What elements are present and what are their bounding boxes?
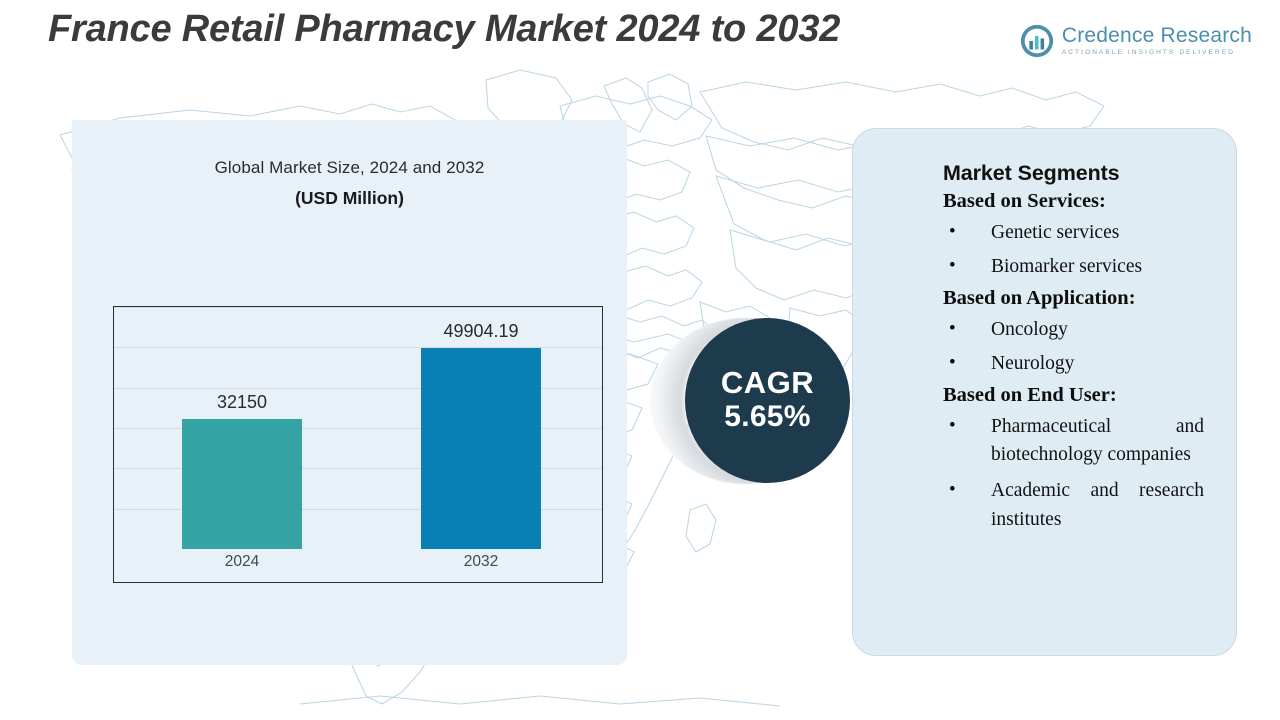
segment-item: Biomarker services <box>943 253 1218 281</box>
bar-chart: 32150 49904.19 2024 2032 <box>113 306 603 583</box>
segment-list: Pharmaceutical and biotechnology compani… <box>943 413 1218 533</box>
segment-group-title: Based on Services: <box>943 190 1218 213</box>
bar-value-2024: 32150 <box>142 392 342 413</box>
page-title: France Retail Pharmacy Market 2024 to 20… <box>48 8 840 51</box>
bar-value-2032: 49904.19 <box>381 321 581 342</box>
segment-group: Based on Application:OncologyNeurology <box>943 287 1218 378</box>
cagr-label: CAGR <box>721 367 814 400</box>
bar-2024 <box>182 419 302 549</box>
bar-group-2024: 32150 <box>182 307 302 549</box>
segment-group-title: Based on Application: <box>943 287 1218 310</box>
brand-logo: Credence Research Actionable Insights De… <box>1020 24 1252 58</box>
category-label-2032: 2032 <box>421 553 541 571</box>
category-label-2024: 2024 <box>182 553 302 571</box>
cagr-badge: CAGR 5.65% <box>650 318 850 484</box>
cagr-circle: CAGR 5.65% <box>685 318 850 483</box>
segment-item: Neurology <box>943 350 1218 378</box>
chart-title: Global Market Size, 2024 and 2032 <box>72 158 627 178</box>
segment-list: Genetic servicesBiomarker services <box>943 219 1218 281</box>
chart-plot-area: 32150 49904.19 <box>114 307 602 549</box>
brand-name: Credence Research <box>1062 25 1252 46</box>
bar-2032 <box>421 348 541 549</box>
segment-item: Academic and research institutes <box>943 477 1218 533</box>
segment-item: Pharmaceutical and biotechnology compani… <box>943 413 1218 469</box>
segment-item: Genetic services <box>943 219 1218 247</box>
segment-group-title: Based on End User: <box>943 384 1218 407</box>
market-segments-panel: Market Segments Based on Services:Geneti… <box>852 128 1237 656</box>
segment-group: Based on Services:Genetic servicesBiomar… <box>943 190 1218 281</box>
segments-body: Based on Services:Genetic servicesBiomar… <box>943 190 1218 534</box>
bar-group-2032: 49904.19 <box>421 307 541 549</box>
segments-heading: Market Segments <box>943 161 1218 186</box>
segment-item: Oncology <box>943 316 1218 344</box>
chart-units-label: (USD Million) <box>72 188 627 209</box>
cagr-value: 5.65% <box>724 400 811 435</box>
bar-chart-circle-icon <box>1020 24 1054 58</box>
infographic-canvas: France Retail Pharmacy Market 2024 to 20… <box>0 0 1280 720</box>
segment-list: OncologyNeurology <box>943 316 1218 378</box>
segment-group: Based on End User:Pharmaceutical and bio… <box>943 384 1218 533</box>
brand-tagline: Actionable Insights Delivered <box>1062 50 1252 57</box>
